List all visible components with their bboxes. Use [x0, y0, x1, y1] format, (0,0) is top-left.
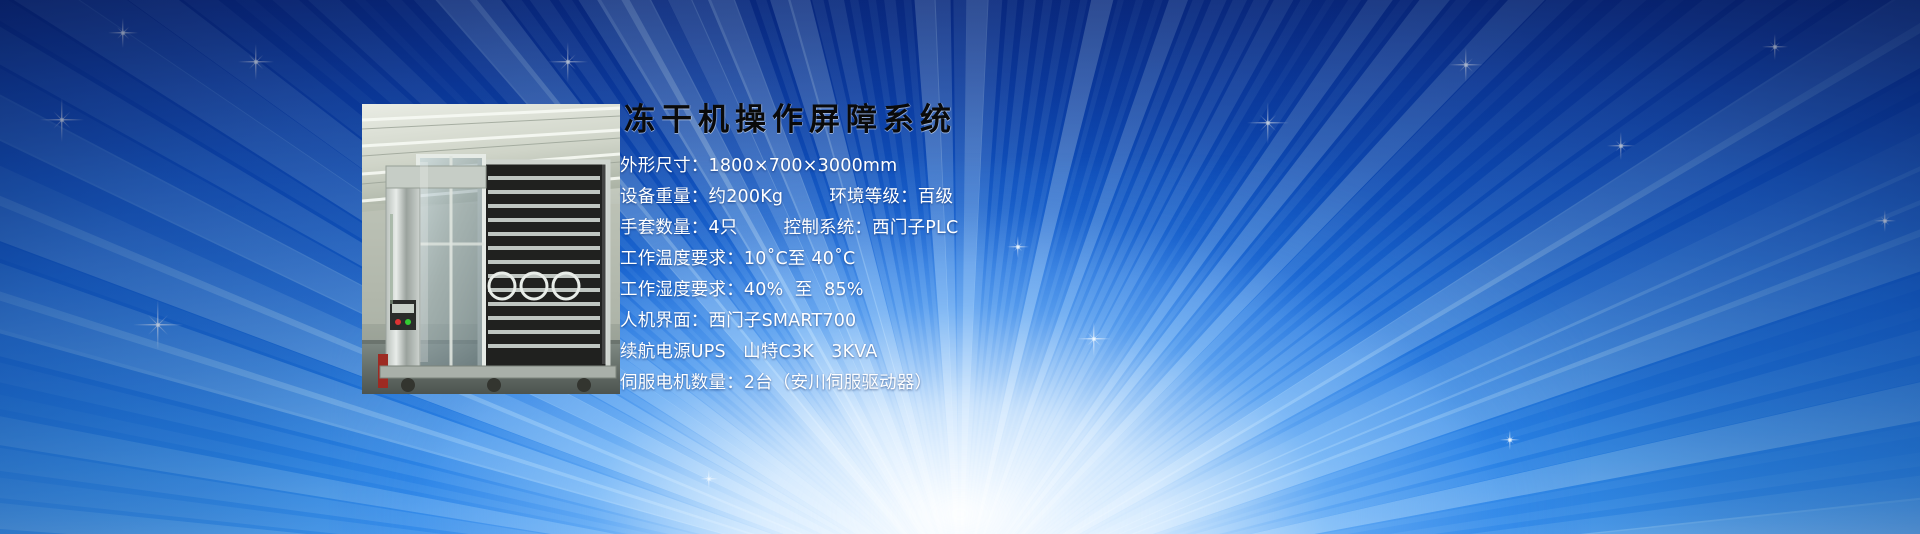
spec-line-servo-motor: 伺服电机数量：2台（安川伺服驱动器）: [620, 368, 1240, 399]
promotional-banner: 冻干机操作屏障系统 外形尺寸：1800×700×3000mm设备重量：约200K…: [0, 0, 1920, 534]
product-photo: [362, 104, 620, 394]
page-title: 冻干机操作屏障系统: [624, 100, 1240, 140]
spec-line-humidity: 工作湿度要求：40% 至 85%: [620, 275, 1240, 306]
banner-text-block: 冻干机操作屏障系统 外形尺寸：1800×700×3000mm设备重量：约200K…: [620, 100, 1240, 399]
spec-line-dimensions: 外形尺寸：1800×700×3000mm: [620, 151, 1240, 182]
spec-line-hmi: 人机界面：西门子SMART700: [620, 306, 1240, 337]
spec-line-weight-grade: 设备重量：约200Kg 环境等级：百级: [620, 182, 1240, 213]
spec-list: 外形尺寸：1800×700×3000mm设备重量：约200Kg 环境等级：百级手…: [620, 151, 1240, 399]
spec-line-ups: 续航电源UPS 山特C3K 3KVA: [620, 337, 1240, 368]
spec-line-gloves-plc: 手套数量：4只 控制系统：西门子PLC: [620, 213, 1240, 244]
spec-line-temperature: 工作温度要求：10˚C至 40˚C: [620, 244, 1240, 275]
